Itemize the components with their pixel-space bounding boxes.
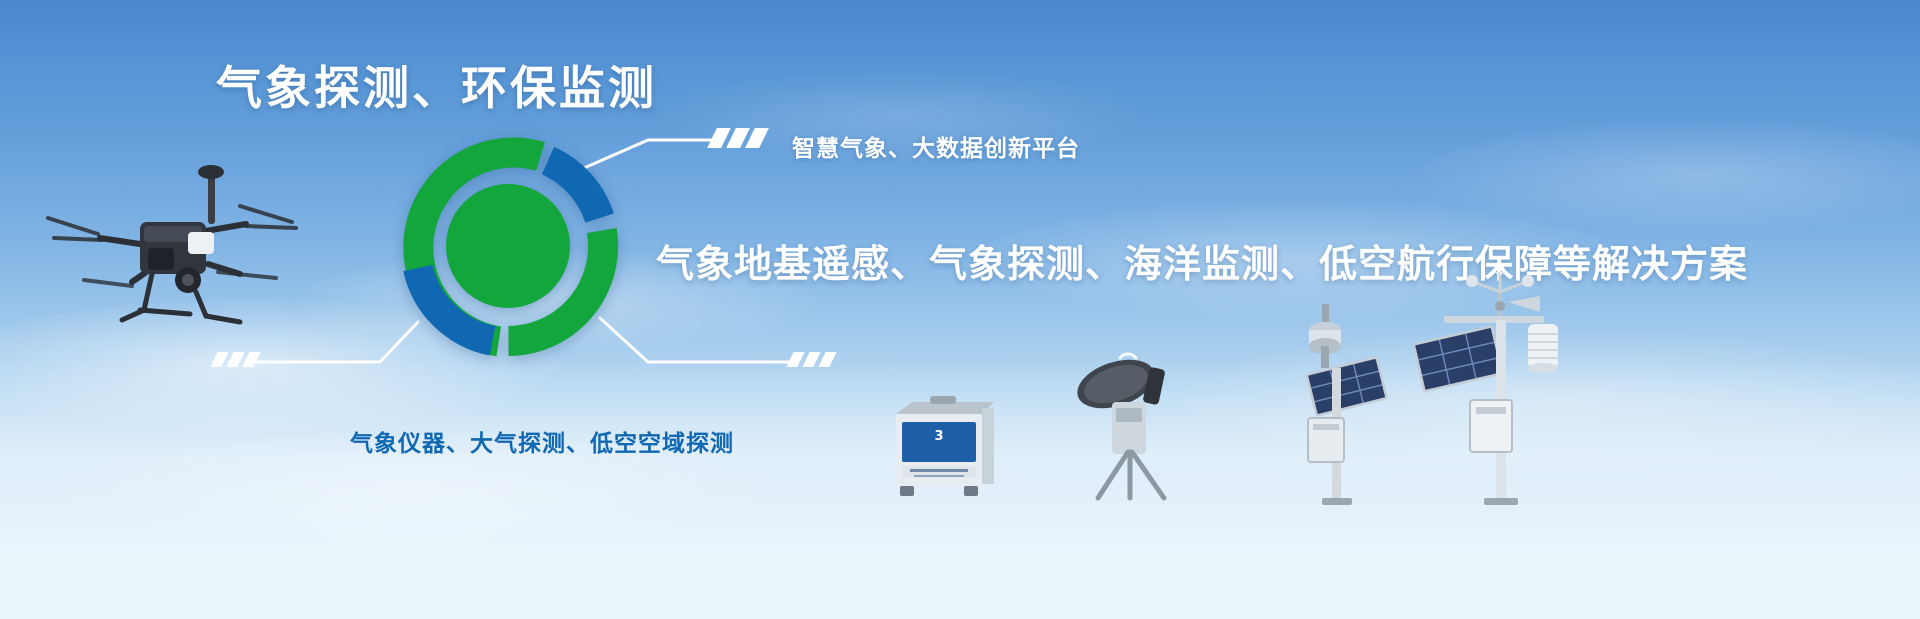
wind-lidar-cabinet: 3: [890, 392, 1000, 502]
ring-diagram: [392, 130, 624, 362]
ring-center-disc: [446, 184, 570, 308]
slash-marks-top: [712, 128, 764, 148]
dish-antenna-tripod: [1068, 352, 1198, 502]
callout-label-top: 智慧气象、大数据创新平台: [792, 129, 1080, 163]
drone-sensor-payload: [188, 232, 214, 254]
sensor-head: [1309, 304, 1341, 368]
drone-antenna: [208, 174, 215, 224]
callout-label-main: 气象地基遥感、气象探测、海洋监测、低空航行保障等解决方案: [656, 233, 1748, 288]
page-title: 气象探测、环保监测: [216, 52, 657, 118]
signal-waves-icon: [1102, 352, 1154, 358]
ring-diagram-svg: [392, 130, 624, 362]
solar-panel: [1307, 357, 1387, 415]
cabinet-handle: [930, 396, 956, 404]
slash-marks-bottom-left: [214, 352, 257, 367]
quadcopter-drone: [40, 160, 300, 340]
automatic-weather-station: [1404, 272, 1564, 505]
radiation-shield: [1528, 324, 1558, 373]
anemometer: [1466, 272, 1540, 318]
slash-marks-bottom-right: [790, 352, 833, 367]
solar-powered-monitoring-station: [1282, 300, 1392, 505]
svg-text:3: 3: [934, 429, 943, 444]
crossarm: [1444, 316, 1544, 323]
tripod-legs: [1098, 452, 1164, 498]
callout-label-bottom: 气象仪器、大气探测、低空空域探测: [350, 424, 734, 458]
solar-panel: [1414, 327, 1503, 392]
hero-banner: 气象探测、环保监测 智慧气象、大数据创新平台 气象地基遥感、气象探测、海洋监测、…: [0, 0, 1920, 619]
